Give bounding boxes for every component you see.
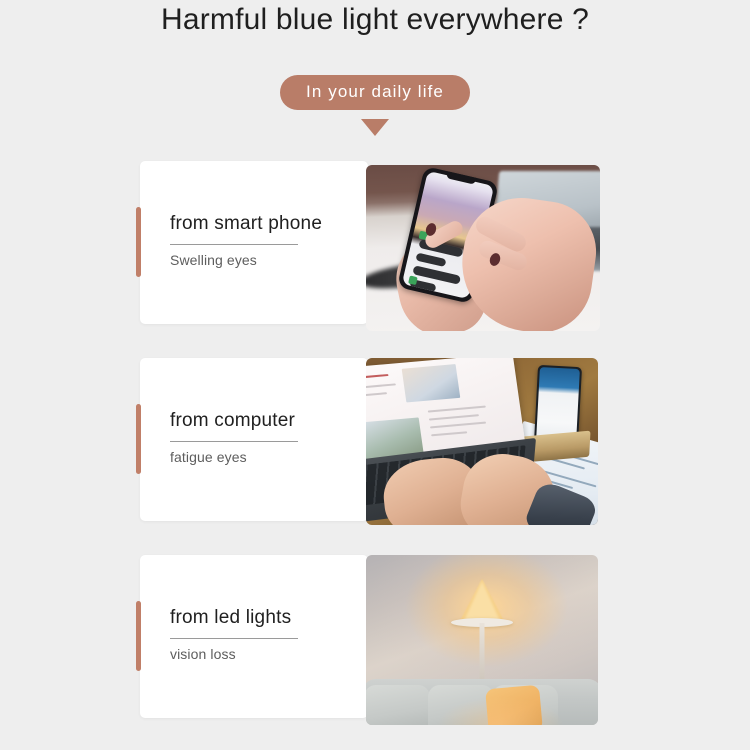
card-text-block: from led lights vision loss [170,607,298,663]
card-photo-computer [366,358,598,525]
card-subtitle: fatigue eyes [170,449,298,466]
card-list: from smart phone Swelling eyes [0,161,750,723]
page-header: Harmful blue light everywhere ? In your … [0,0,750,139]
card-smart-phone[interactable]: from smart phone Swelling eyes [0,161,750,329]
card-divider [170,638,298,639]
arrow-container [0,119,750,139]
card-computer[interactable]: from computer fatigue eyes [0,358,750,526]
card-title: from computer [170,410,298,432]
accent-bar [136,207,141,277]
card-text-block: from computer fatigue eyes [170,410,298,466]
page-title: Harmful blue light everywhere ? [0,2,750,39]
card-title: from led lights [170,607,298,629]
card-title: from smart phone [170,213,322,235]
accent-bar [136,404,141,474]
daily-life-badge: In your daily life [280,75,470,111]
card-text-block: from smart phone Swelling eyes [170,213,322,269]
accent-bar [136,601,141,671]
card-divider [170,244,298,245]
card-subtitle: Swelling eyes [170,252,322,269]
card-photo-smart-phone [366,165,600,331]
card-photo-led-lights [366,555,598,725]
badge-container: In your daily life [0,75,750,111]
triangle-down-icon [361,119,389,136]
card-led-lights[interactable]: from led lights vision loss [0,555,750,723]
card-subtitle: vision loss [170,646,298,663]
card-divider [170,441,298,442]
